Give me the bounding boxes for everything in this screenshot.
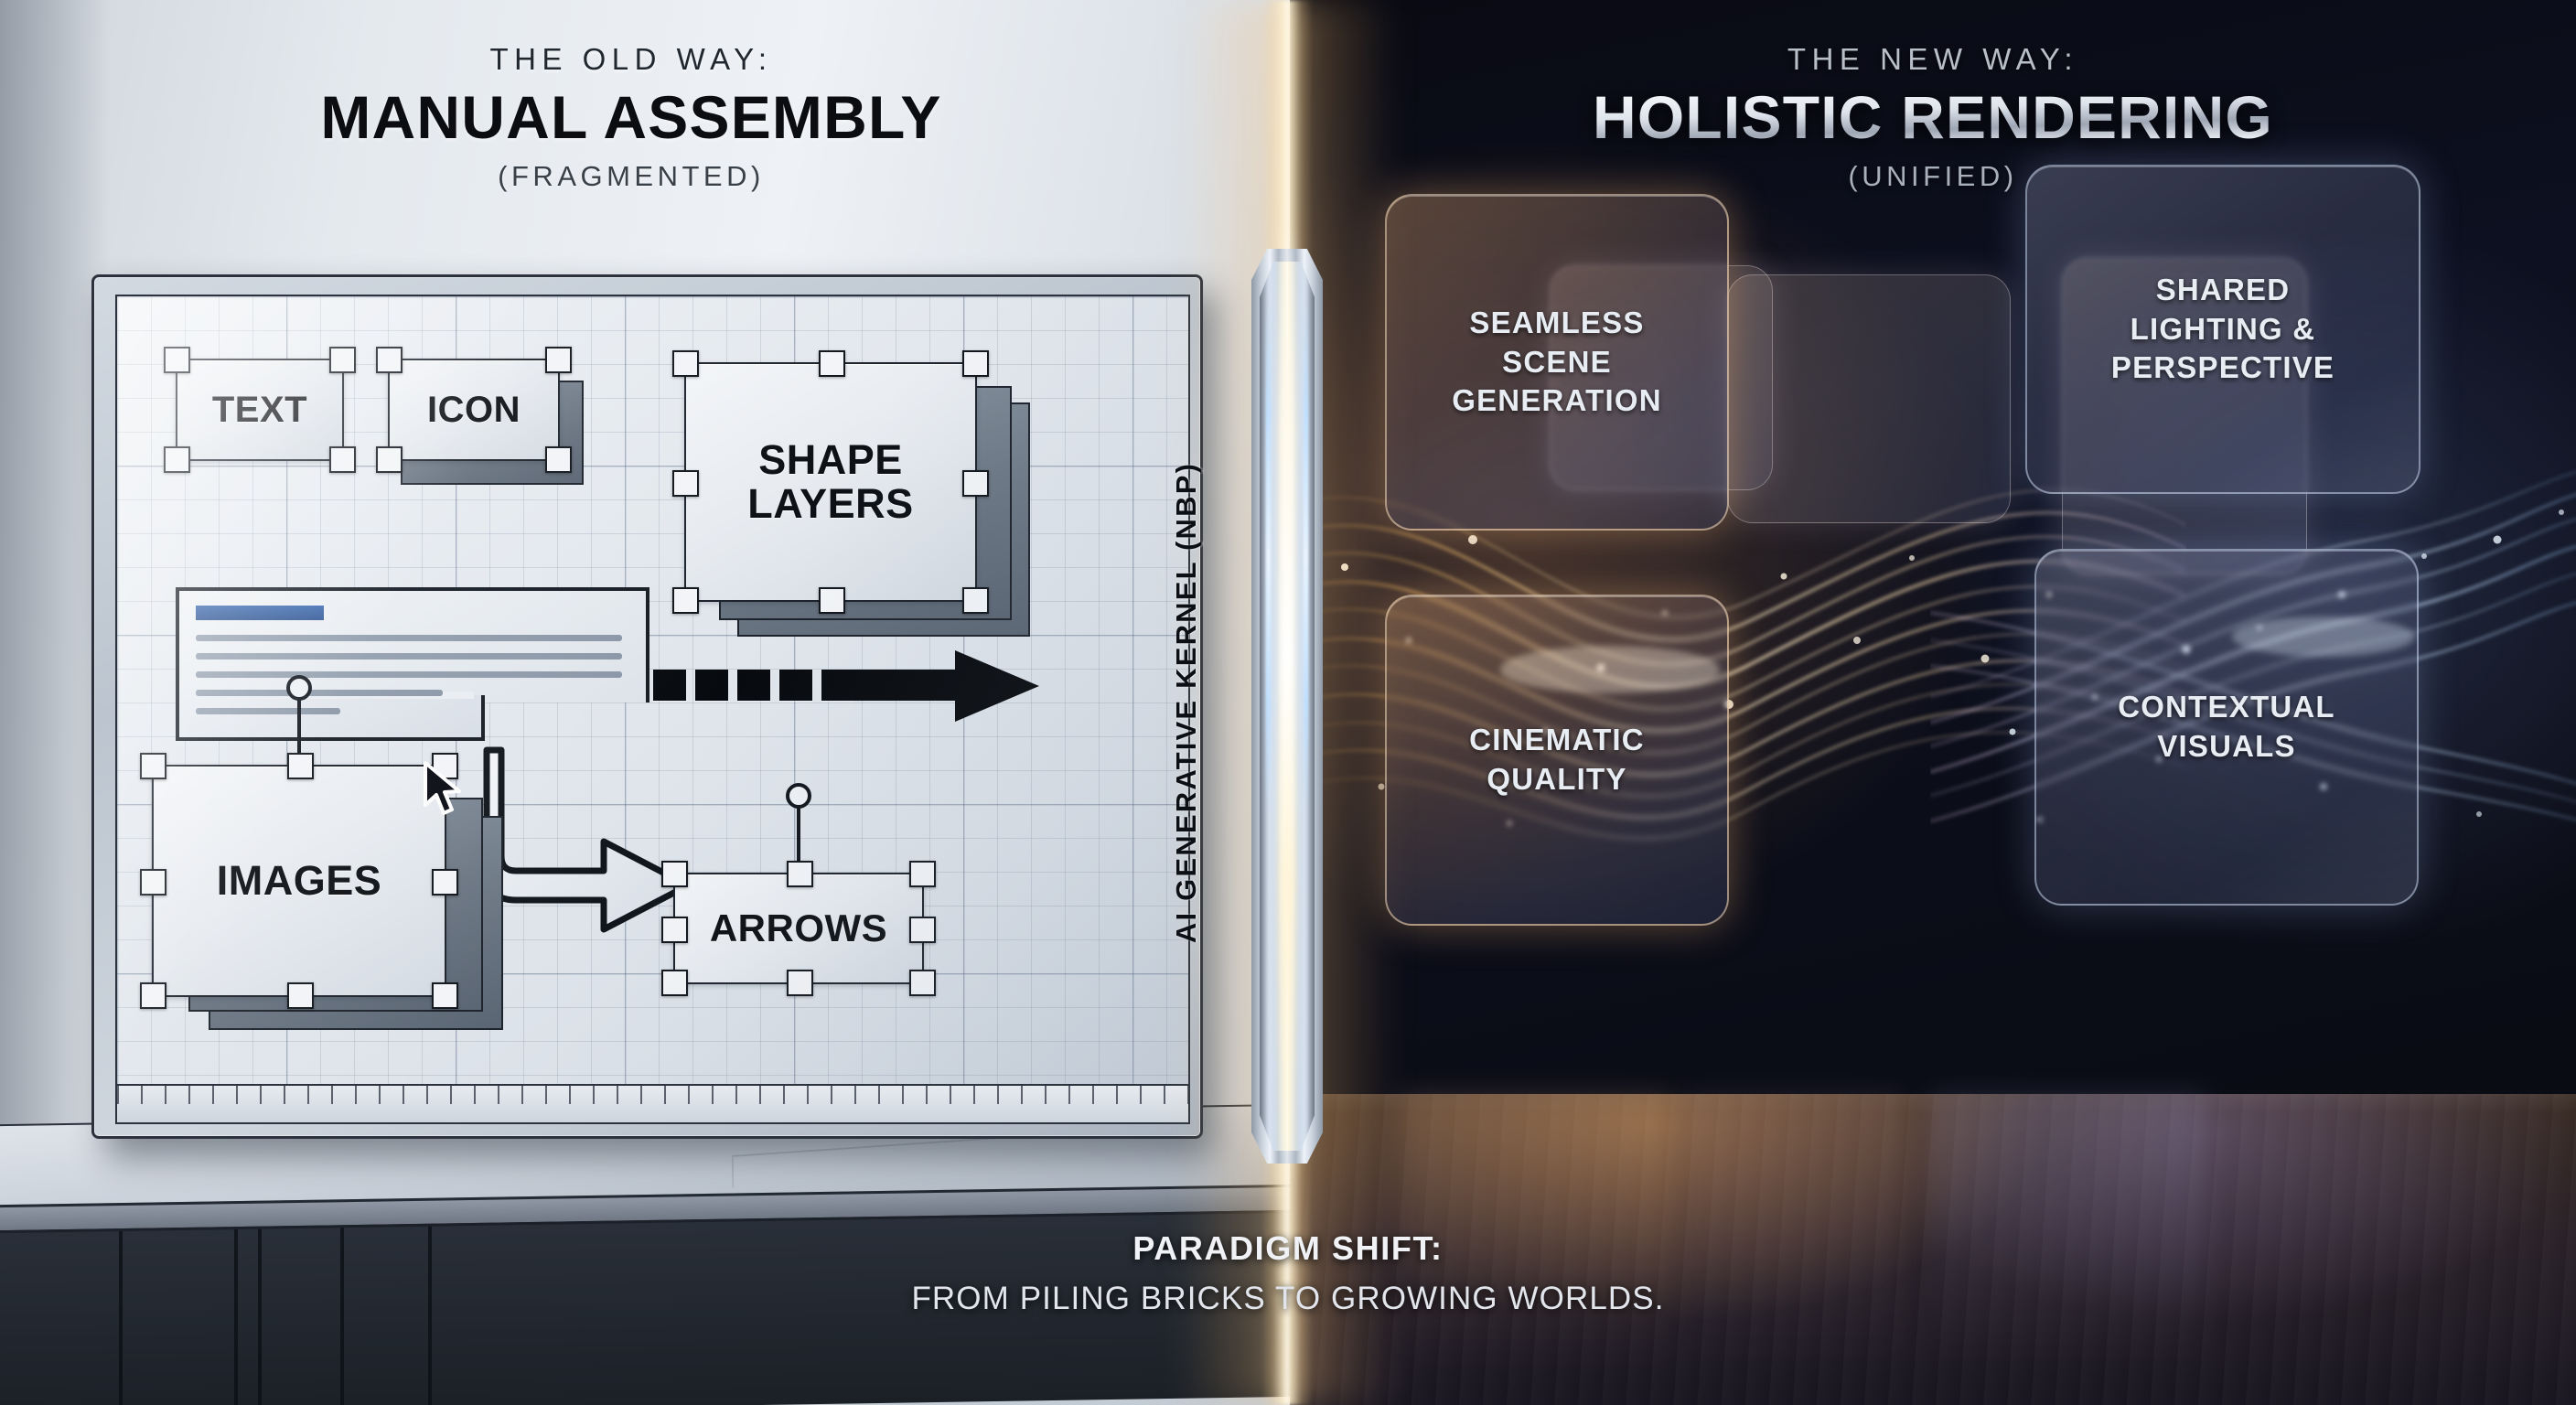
resize-handle-bl[interactable]: [672, 587, 699, 614]
old-way-title: MANUAL ASSEMBLY: [0, 82, 1262, 154]
resize-handle-tc[interactable]: [819, 350, 845, 377]
desk-sketch-mark: [732, 1135, 1027, 1188]
canvas-object-text[interactable]: TEXT: [176, 359, 344, 461]
object-body: ARROWS: [673, 873, 924, 984]
canvas-object-shape-layers[interactable]: SHAPE LAYERS: [684, 362, 977, 602]
resize-handle-bl[interactable]: [164, 446, 190, 473]
whiteboard: TEXT ICON: [91, 274, 1203, 1139]
elbow-right-arrow-icon: [483, 746, 693, 934]
new-way-subtitle: (UNIFIED): [1290, 160, 2576, 193]
resize-handle-tc[interactable]: [287, 753, 314, 779]
footer-caption: PARADIGM SHIFT: FROM PILING BRICKS TO GR…: [0, 1229, 2576, 1317]
object-body: SHAPE LAYERS: [684, 362, 977, 602]
new-way-title: HOLISTIC RENDERING: [1290, 82, 2576, 154]
card-label: CONTEXTUAL VISUALS: [2118, 688, 2335, 767]
object-label: TEXT: [212, 391, 307, 429]
resize-handle-br[interactable]: [329, 446, 356, 473]
canvas-object-arrows[interactable]: ARROWS: [673, 873, 924, 984]
resize-handle-tr[interactable]: [329, 347, 356, 373]
resize-handle-mr[interactable]: [909, 917, 936, 943]
object-body: IMAGES: [152, 765, 446, 997]
card-shared-lighting-perspective[interactable]: SHARED LIGHTING & PERSPECTIVE: [2025, 165, 2420, 494]
document-body: [176, 587, 649, 702]
infographic-canvas: TEXT ICON: [0, 0, 2576, 1405]
old-way-heading: THE OLD WAY: MANUAL ASSEMBLY (FRAGMENTED…: [0, 44, 1262, 193]
ruler-ticks: [117, 1086, 1188, 1104]
new-way-kicker: THE NEW WAY:: [1290, 44, 2576, 74]
document-notch: [176, 695, 485, 741]
new-way-panel: SEAMLESS SCENE GENERATION SHARED LIGHTIN…: [1290, 0, 2576, 1405]
resize-handle-bl[interactable]: [140, 982, 166, 1009]
card-cinematic-quality[interactable]: CINEMATIC QUALITY: [1385, 595, 1729, 926]
mouse-cursor-icon: [423, 761, 463, 818]
resize-handle-tl[interactable]: [661, 861, 688, 887]
resize-handle-tl[interactable]: [672, 350, 699, 377]
old-way-kicker: THE OLD WAY:: [0, 44, 1262, 74]
resize-handle-mr[interactable]: [962, 470, 989, 497]
object-label: ARROWS: [710, 908, 887, 949]
resize-handle-bc[interactable]: [287, 982, 314, 1009]
resize-handle-tr[interactable]: [909, 861, 936, 887]
rotate-handle-icon[interactable]: [297, 697, 301, 754]
resize-handle-mr[interactable]: [432, 869, 458, 896]
resize-handle-bc[interactable]: [787, 970, 813, 996]
resize-handle-tl[interactable]: [140, 753, 166, 779]
resize-handle-bl[interactable]: [376, 446, 402, 473]
resize-handle-tc[interactable]: [787, 861, 813, 887]
footer-line-1: PARADIGM SHIFT:: [0, 1229, 2576, 1268]
object-body: ICON: [388, 359, 560, 461]
resize-handle-ml[interactable]: [661, 917, 688, 943]
resize-handle-tl[interactable]: [376, 347, 402, 373]
resize-handle-bl[interactable]: [661, 970, 688, 996]
card-contextual-visuals[interactable]: CONTEXTUAL VISUALS: [2034, 549, 2419, 906]
canvas-object-images[interactable]: IMAGES: [152, 765, 446, 997]
whiteboard-canvas[interactable]: TEXT ICON: [115, 295, 1190, 1086]
card-label: SHARED LIGHTING & PERSPECTIVE: [2111, 271, 2334, 389]
object-body: TEXT: [176, 359, 344, 461]
document-text-block-icon[interactable]: [176, 587, 642, 734]
resize-handle-br[interactable]: [545, 446, 572, 473]
overlay-panel-center: [1727, 274, 2011, 523]
document-title-bar: [196, 606, 324, 620]
object-label: SHAPE LAYERS: [747, 438, 913, 525]
resize-handle-tr[interactable]: [545, 347, 572, 373]
footer-line-2: FROM PILING BRICKS TO GROWING WORLDS.: [0, 1281, 2576, 1317]
whiteboard-ruler: [115, 1084, 1190, 1124]
resize-handle-ml[interactable]: [672, 470, 699, 497]
rotate-handle-icon[interactable]: [797, 805, 800, 862]
resize-handle-tr[interactable]: [962, 350, 989, 377]
object-label: ICON: [427, 391, 521, 429]
card-label: SEAMLESS SCENE GENERATION: [1452, 304, 1662, 422]
resize-handle-br[interactable]: [432, 982, 458, 1009]
canvas-object-icon[interactable]: ICON: [388, 359, 560, 461]
kernel-label: AI GENERATIVE KERNEL (NBP): [1170, 462, 1203, 943]
resize-handle-br[interactable]: [909, 970, 936, 996]
resize-handle-bc[interactable]: [819, 587, 845, 614]
card-seamless-scene-generation[interactable]: SEAMLESS SCENE GENERATION: [1385, 194, 1729, 531]
new-way-heading: THE NEW WAY: HOLISTIC RENDERING (UNIFIED…: [1290, 44, 2576, 193]
resize-handle-br[interactable]: [962, 587, 989, 614]
resize-handle-tl[interactable]: [164, 347, 190, 373]
old-way-panel: TEXT ICON: [0, 0, 1290, 1405]
old-way-subtitle: (FRAGMENTED): [0, 160, 1262, 193]
glowing-energy-pillar-icon: [1251, 0, 1323, 1405]
dashed-right-arrow-icon: [653, 657, 1037, 715]
card-label: CINEMATIC QUALITY: [1469, 721, 1645, 799]
pillar-flare: [1279, 220, 1295, 1189]
object-label: IMAGES: [217, 859, 382, 903]
pillar-edge-left: [1266, 302, 1271, 814]
pillar-edge-right: [1304, 302, 1308, 814]
resize-handle-ml[interactable]: [140, 869, 166, 896]
